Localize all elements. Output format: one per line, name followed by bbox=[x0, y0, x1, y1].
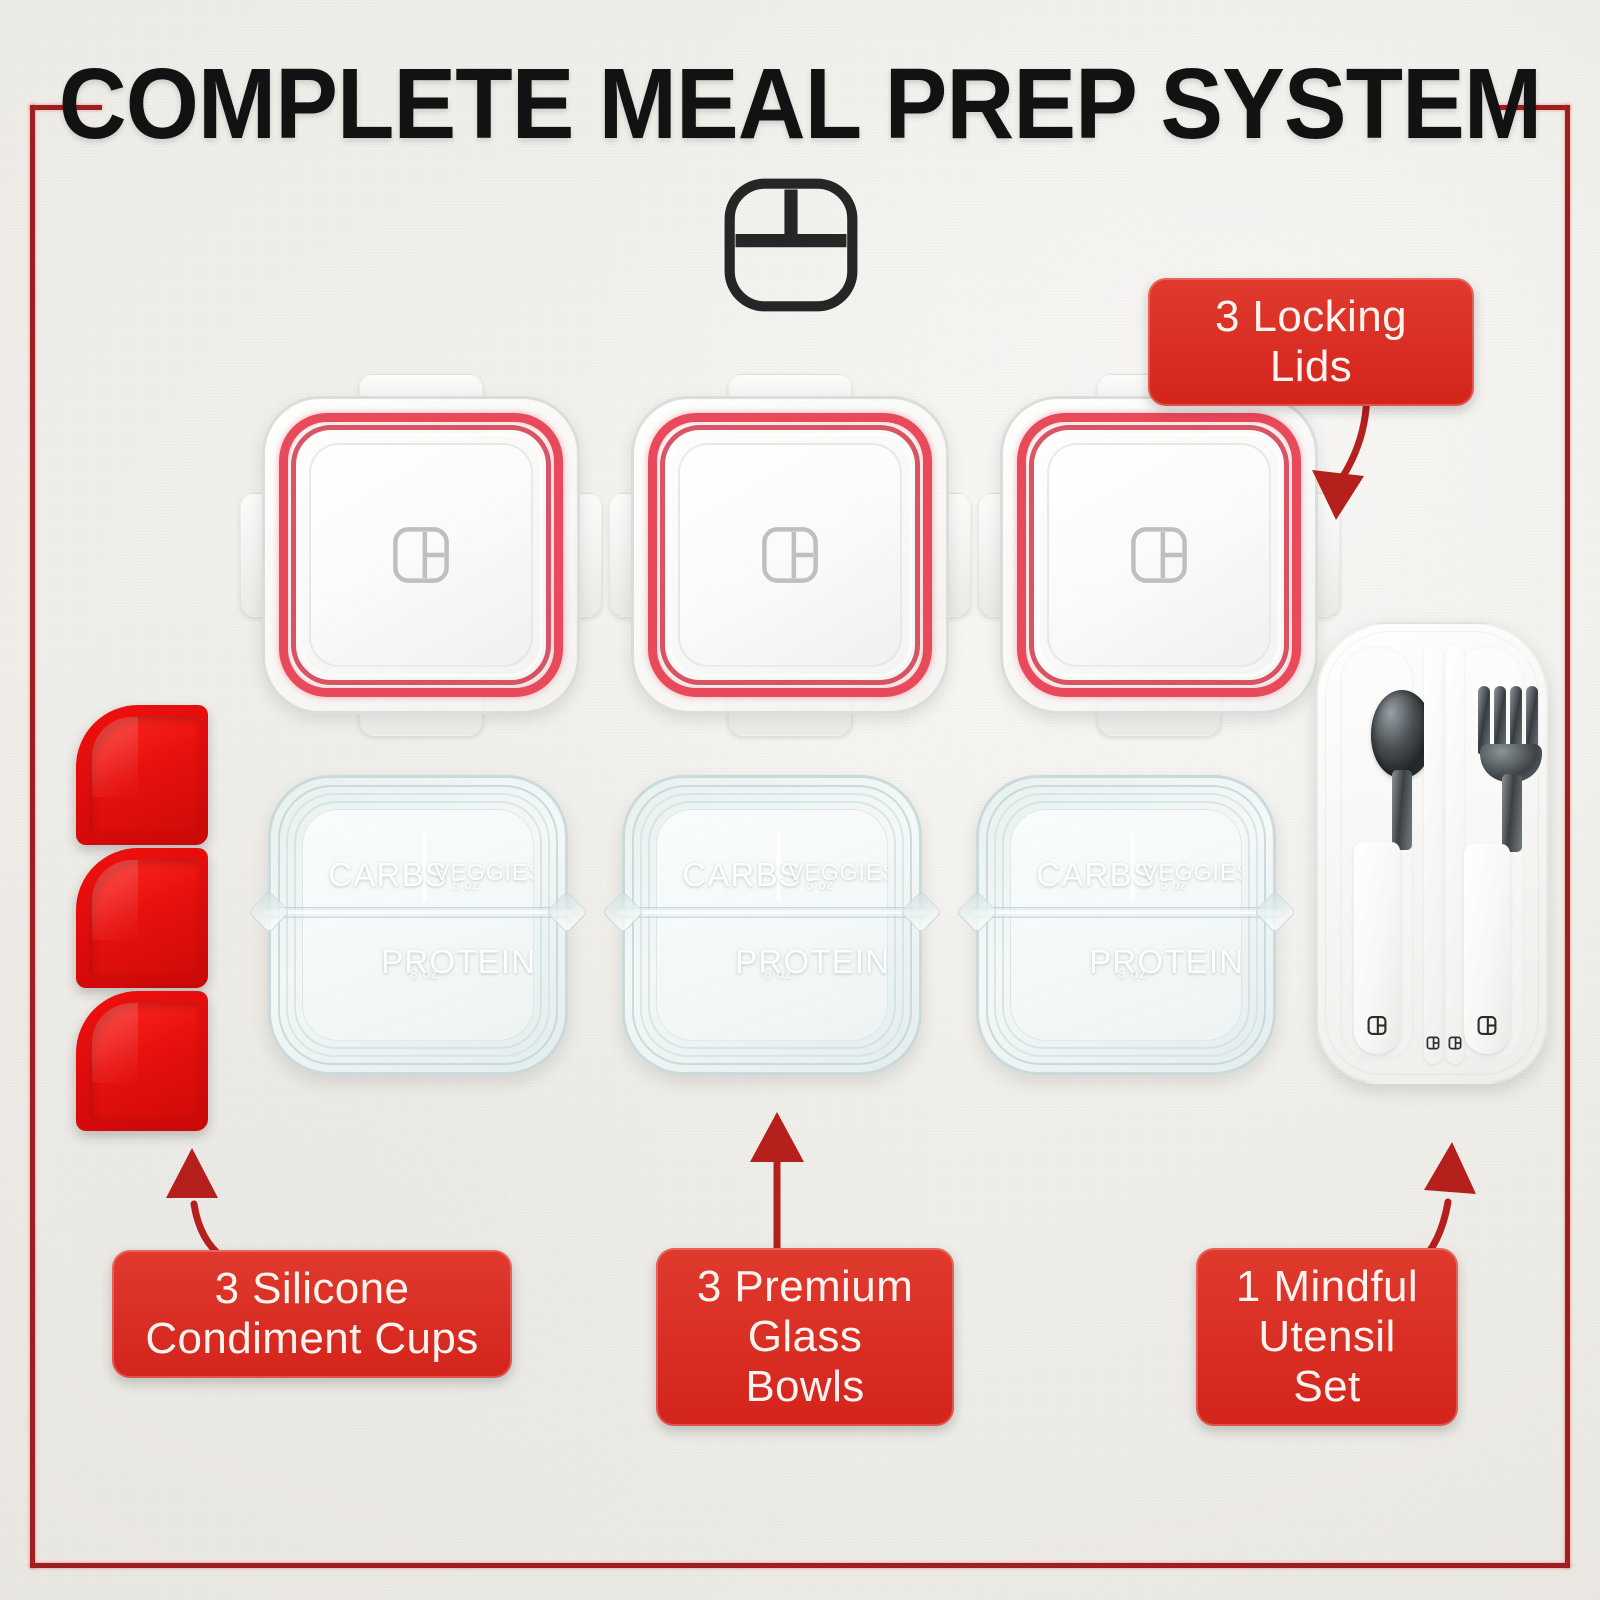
bowl-volume-veggies: 5 oz bbox=[1161, 877, 1188, 892]
bowl-volume-veggies: 5 oz bbox=[807, 877, 834, 892]
fork-handle-logo-icon bbox=[1477, 1015, 1498, 1036]
silicone-condiment-cup[interactable] bbox=[76, 991, 208, 1131]
silicone-condiment-cup[interactable] bbox=[76, 848, 208, 988]
bowl-label-protein: PROTEIN bbox=[381, 943, 534, 981]
fork[interactable] bbox=[1450, 646, 1524, 1060]
cup-highlight bbox=[92, 1003, 138, 1083]
frame-right-vertical bbox=[1565, 105, 1570, 1568]
spoon[interactable] bbox=[1340, 646, 1414, 1060]
lid-shell bbox=[262, 396, 580, 714]
bowl-horizontal-divider bbox=[972, 907, 1280, 918]
bowl-horizontal-divider bbox=[618, 907, 926, 918]
bowl-label-carbs: CARBS bbox=[682, 856, 802, 894]
callout-badge-utensil-set[interactable]: 1 Mindful Utensil Set bbox=[1196, 1248, 1458, 1426]
callout-badge-glass-bowls[interactable]: 3 Premium Glass Bowls bbox=[656, 1248, 954, 1426]
lid-embossed-logo-icon bbox=[1127, 523, 1191, 587]
callout-badge-condiment-cups[interactable]: 3 Silicone Condiment Cups bbox=[112, 1250, 512, 1378]
three-compartment-bento-logo-icon bbox=[718, 172, 864, 318]
bowl-label-protein: PROTEIN bbox=[735, 943, 888, 981]
spoon-handle-logo-icon bbox=[1367, 1015, 1388, 1036]
lid-embossed-logo-icon bbox=[758, 523, 822, 587]
frame-left-vertical bbox=[30, 105, 35, 1568]
locking-lid[interactable] bbox=[1000, 396, 1318, 714]
utensil-set[interactable] bbox=[1316, 622, 1548, 1084]
bowl-label-carbs: CARBS bbox=[1036, 856, 1156, 894]
fork-neck bbox=[1502, 774, 1522, 852]
bowl-cavity: CARBS VEGGIES 5 oz PROTEIN 8 oz bbox=[656, 809, 888, 1041]
fork-handle bbox=[1464, 844, 1510, 1054]
lid-shell bbox=[1000, 396, 1318, 714]
bowl-volume-veggies: 5 oz bbox=[453, 877, 480, 892]
bowl-horizontal-divider bbox=[264, 907, 572, 918]
bowl-label-veggies: VEGGIES bbox=[434, 859, 534, 886]
lid-embossed-logo-icon bbox=[389, 523, 453, 587]
cup-highlight bbox=[92, 717, 138, 797]
bowl-label-veggies: VEGGIES bbox=[1142, 859, 1242, 886]
bowl-cavity: CARBS VEGGIES 5 oz PROTEIN 8 oz bbox=[302, 809, 534, 1041]
chopstick[interactable] bbox=[1424, 644, 1442, 1064]
glass-bowl[interactable]: CARBS VEGGIES 5 oz PROTEIN 8 oz bbox=[976, 775, 1276, 1075]
silicone-condiment-cup[interactable] bbox=[76, 705, 208, 845]
bowl-volume-protein: 8 oz bbox=[1118, 965, 1146, 981]
page-title: COMPLETE MEAL PREP SYSTEM bbox=[48, 52, 1552, 157]
bowl-label-veggies: VEGGIES bbox=[788, 859, 888, 886]
lid-clear-pane bbox=[309, 443, 533, 667]
lid-clear-pane bbox=[1047, 443, 1271, 667]
product-infographic: COMPLETE MEAL PREP SYSTEM bbox=[0, 0, 1600, 1600]
bowl-label-protein: PROTEIN bbox=[1089, 943, 1242, 981]
spoon-neck bbox=[1392, 770, 1412, 850]
fork-head bbox=[1476, 686, 1546, 782]
bowl-cavity: CARBS VEGGIES 5 oz PROTEIN 8 oz bbox=[1010, 809, 1242, 1041]
bowl-label-carbs: CARBS bbox=[328, 856, 448, 894]
glass-bowl[interactable]: CARBS VEGGIES 5 oz PROTEIN 8 oz bbox=[622, 775, 922, 1075]
locking-lid[interactable] bbox=[262, 396, 580, 714]
glass-bowl[interactable]: CARBS VEGGIES 5 oz PROTEIN 8 oz bbox=[268, 775, 568, 1075]
cup-highlight bbox=[92, 860, 138, 940]
frame-bottom-horizontal bbox=[30, 1563, 1570, 1568]
callout-badge-locking-lids[interactable]: 3 Locking Lids bbox=[1148, 278, 1474, 406]
lid-clear-pane bbox=[678, 443, 902, 667]
chopstick-logo-icon bbox=[1426, 1036, 1440, 1050]
locking-lid[interactable] bbox=[631, 396, 949, 714]
arrow-glass-bowls bbox=[742, 1112, 812, 1264]
spoon-handle bbox=[1354, 842, 1400, 1054]
lid-shell bbox=[631, 396, 949, 714]
bowl-volume-protein: 8 oz bbox=[764, 965, 792, 981]
bowl-volume-protein: 8 oz bbox=[410, 965, 438, 981]
